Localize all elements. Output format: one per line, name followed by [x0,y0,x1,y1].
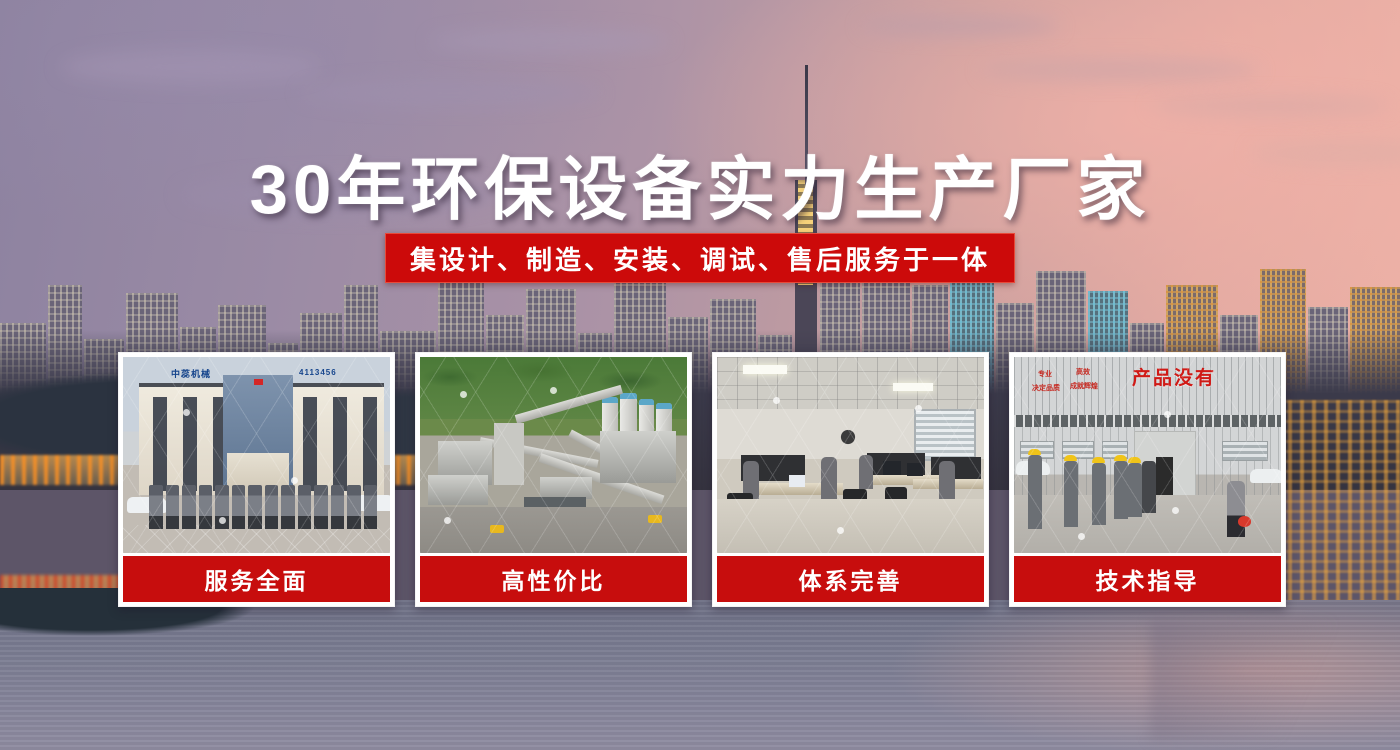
card-caption-bar: 技术指导 [1014,556,1281,602]
watermark-dot [773,397,780,404]
cloud [300,80,600,106]
hard-hat [1064,455,1077,461]
office-floor [717,499,984,553]
flag-icon [254,379,263,385]
plant-shed [540,477,592,499]
factory-workers-photo: 产品没有 专业 决定品质 高效 成就辉煌 [1014,357,1281,553]
watermark-dot [837,527,844,534]
water-reflection-streak [1150,620,1400,740]
office-interior-photo [717,357,984,553]
card-caption-bar: 高性价比 [420,556,687,602]
ceiling-light [743,365,787,374]
office-building-staff-photo: 中蕊机械 4113456 [123,357,390,553]
card-caption-text: 高性价比 [502,562,606,596]
hero-banner: 30年环保设备实力生产厂家 集设计、制造、安装、调试、售后服务于一体 中蕊机械 … [0,0,1400,750]
card-caption-bar: 服务全面 [123,556,390,602]
office-worker [939,461,955,499]
watermark-dot [183,409,190,416]
plant-yard [420,507,687,553]
card-caption-bar: 体系完善 [717,556,984,602]
plant-shed [428,475,488,505]
feature-card-list: 中蕊机械 4113456 服务全面 [118,352,1293,607]
card-caption-text: 技术指导 [1096,562,1200,596]
building-sign-text: 中蕊机械 [171,367,211,380]
hard-hat [1114,455,1127,461]
card-caption-text: 体系完善 [799,562,903,596]
watermark-dot [1078,533,1085,540]
office-worker [859,455,873,489]
worker [1114,461,1128,519]
cloud [980,58,1260,82]
watermark-dot [550,387,557,394]
worker [1128,463,1142,517]
office-worker [821,457,837,501]
monitor [907,463,923,476]
cloud [1150,96,1390,116]
subtitle-text: 集设计、制造、安装、调试、售后服务于一体 [410,240,990,277]
parked-car [1250,469,1281,483]
watermark-dot [1172,507,1179,514]
feature-card[interactable]: 中蕊机械 4113456 服务全面 [118,352,395,607]
excavator [648,515,662,523]
card-caption-text: 服务全面 [205,562,309,596]
excavator [490,525,504,533]
wall-decal [829,419,867,449]
building-phone-text: 4113456 [299,368,337,377]
factory-slogan-small: 决定品质 [1032,385,1060,394]
factory-side-door [1156,457,1173,497]
feature-card[interactable]: 高性价比 [415,352,692,607]
feature-card[interactable]: 体系完善 [712,352,989,607]
red-helmet-icon [1238,516,1251,527]
factory-slogan-small: 专业 [1038,371,1052,380]
plant-shed [600,431,676,483]
watermark-dot [915,405,922,412]
cloud [860,16,1060,36]
factory-slogan-text: 产品没有 [1132,363,1216,390]
laptop [789,475,805,487]
worker [1028,455,1042,529]
cloud [430,30,670,52]
factory-slogan-small: 高效 [1076,369,1090,378]
cloud [60,50,320,84]
page-title: 30年环保设备实力生产厂家 [0,133,1400,233]
watermark-dot [219,517,226,524]
processing-tower [494,423,524,485]
worker [1064,461,1078,527]
watermark-dot [444,517,451,524]
hard-hat [1128,457,1141,463]
feature-card[interactable]: 产品没有 专业 决定品质 高效 成就辉煌 [1009,352,1286,607]
factory-slogan-small: 成就辉煌 [1070,383,1098,392]
watermark-dot [291,477,298,484]
watermark-dot [1164,411,1171,418]
worker [1092,463,1106,525]
hard-hat [1028,449,1041,455]
ceiling-light [893,383,933,391]
aerial-plant-photo [420,357,687,553]
supervisor [1227,481,1245,537]
watermark-dot [460,391,467,398]
subtitle-bar: 集设计、制造、安装、调试、售后服务于一体 [385,233,1015,283]
staff-row [149,485,377,529]
factory-window [1222,441,1268,461]
worker [1142,461,1156,513]
paved-courtyard [123,525,390,553]
hard-hat [1092,457,1105,463]
monitor [883,461,901,475]
wall-trim-band [1014,415,1281,427]
